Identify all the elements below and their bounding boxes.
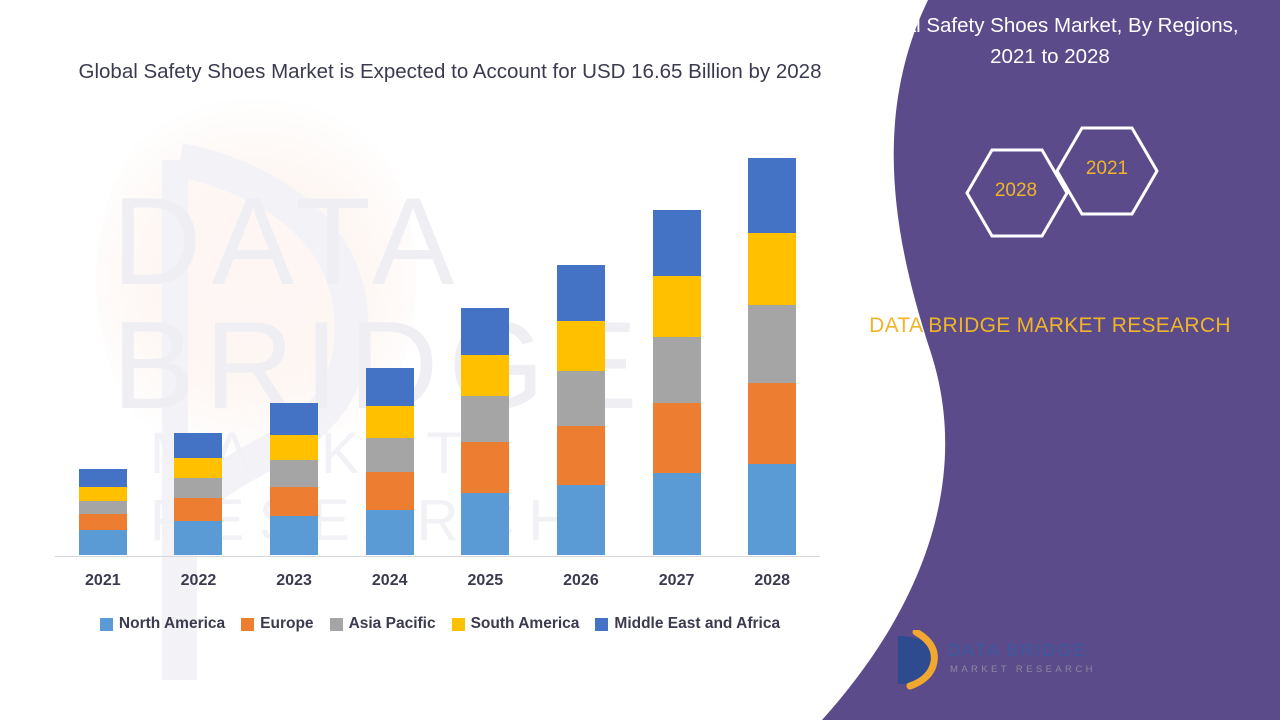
bar-stack — [79, 469, 127, 555]
bar-segment-south-america — [748, 233, 796, 306]
legend-swatch — [330, 618, 343, 631]
dbmr-logo-sub: MARKET RESEARCH — [950, 664, 1096, 675]
bar-segment-north-america — [748, 464, 796, 555]
dbmr-logo: DATA BRIDGE MARKET RESEARCH — [890, 630, 1120, 700]
bar-segment-europe — [79, 514, 127, 530]
bar-segment-south-america — [174, 458, 222, 478]
bar-segment-asia-pacific — [461, 396, 509, 441]
bar-stack — [366, 368, 414, 555]
x-tick-label: 2023 — [254, 572, 334, 590]
bar-segment-middle-east-and-africa — [270, 403, 318, 435]
panel-brand: DATA BRIDGE MARKET RESEARCH — [865, 310, 1235, 342]
bar-segment-south-america — [79, 487, 127, 501]
bar-stack — [174, 433, 222, 555]
legend-item: North America — [100, 615, 225, 633]
legend-label: South America — [471, 615, 580, 633]
chart-title: Global Safety Shoes Market is Expected t… — [60, 55, 840, 88]
bar-stack — [653, 210, 701, 555]
legend-label: Asia Pacific — [349, 615, 436, 633]
legend-swatch — [595, 618, 608, 631]
legend-item: Middle East and Africa — [595, 615, 780, 633]
bar-segment-europe — [270, 487, 318, 516]
bar-segment-asia-pacific — [748, 305, 796, 382]
bar-segment-north-america — [174, 521, 222, 555]
bar-stack — [270, 403, 318, 555]
bar-segment-europe — [748, 383, 796, 465]
panel-shape — [810, 0, 1280, 720]
legend-item: Asia Pacific — [330, 615, 436, 633]
bar-segment-middle-east-and-africa — [79, 469, 127, 487]
dbmr-logo-main: DATA BRIDGE — [948, 640, 1087, 661]
bar-segment-north-america — [79, 530, 127, 555]
bar-segment-south-america — [653, 276, 701, 337]
right-panel: Global Safety Shoes Market, By Regions, … — [810, 0, 1280, 720]
legend-swatch — [241, 618, 254, 631]
bar-segment-europe — [174, 498, 222, 521]
bar-segment-north-america — [270, 516, 318, 555]
bar-segment-south-america — [461, 355, 509, 396]
bar-segment-asia-pacific — [174, 478, 222, 498]
bar-segment-asia-pacific — [366, 438, 414, 472]
bar-segment-middle-east-and-africa — [748, 158, 796, 233]
x-tick-label: 2027 — [637, 572, 717, 590]
bar-segment-middle-east-and-africa — [557, 265, 605, 322]
x-tick-label: 2021 — [63, 572, 143, 590]
bar-segment-asia-pacific — [79, 501, 127, 515]
x-tick-label: 2025 — [445, 572, 525, 590]
bar-segment-asia-pacific — [557, 371, 605, 425]
bar-segment-europe — [653, 403, 701, 473]
bar-segment-middle-east-and-africa — [366, 368, 414, 407]
bar-segment-europe — [557, 426, 605, 485]
bar-segment-south-america — [270, 435, 318, 460]
bar-segment-middle-east-and-africa — [461, 308, 509, 356]
bar-segment-north-america — [461, 493, 509, 555]
hex-label-2028: 2028 — [956, 180, 1076, 202]
legend-item: South America — [452, 615, 580, 633]
bar-segment-europe — [461, 442, 509, 493]
x-tick-label: 2022 — [158, 572, 238, 590]
bar-chart-plot — [55, 150, 820, 555]
legend-swatch — [100, 618, 113, 631]
bar-stack — [557, 265, 605, 555]
bar-segment-asia-pacific — [270, 460, 318, 487]
bar-segment-europe — [366, 472, 414, 509]
x-axis-line — [55, 556, 820, 557]
bar-segment-asia-pacific — [653, 337, 701, 403]
bar-segment-south-america — [366, 406, 414, 438]
bar-segment-south-america — [557, 321, 605, 371]
bar-segment-middle-east-and-africa — [653, 210, 701, 276]
legend-label: North America — [119, 615, 225, 633]
bar-segment-north-america — [557, 485, 605, 555]
hexagon-badges: 2028 2021 — [930, 120, 1260, 300]
bar-segment-middle-east-and-africa — [174, 433, 222, 458]
dbmr-mark-icon — [890, 630, 946, 690]
hexagon-icon — [930, 120, 1260, 310]
x-tick-label: 2024 — [350, 572, 430, 590]
x-tick-label: 2026 — [541, 572, 621, 590]
panel-title: Global Safety Shoes Market, By Regions, … — [850, 10, 1250, 72]
x-axis-labels: 20212022202320242025202620272028 — [55, 572, 820, 598]
x-tick-label: 2028 — [732, 572, 812, 590]
infographic-page: DATA BRIDGE MARKET RESEARCH Global Safet… — [0, 0, 1280, 720]
hex-label-2021: 2021 — [1047, 158, 1167, 180]
legend-swatch — [452, 618, 465, 631]
legend-label: Europe — [260, 615, 313, 633]
bar-segment-north-america — [366, 510, 414, 555]
legend-item: Europe — [241, 615, 313, 633]
bar-segment-north-america — [653, 473, 701, 555]
chart-legend: North AmericaEuropeAsia PacificSouth Ame… — [55, 615, 825, 633]
bar-stack — [748, 158, 796, 555]
legend-label: Middle East and Africa — [614, 615, 780, 633]
bar-stack — [461, 308, 509, 555]
